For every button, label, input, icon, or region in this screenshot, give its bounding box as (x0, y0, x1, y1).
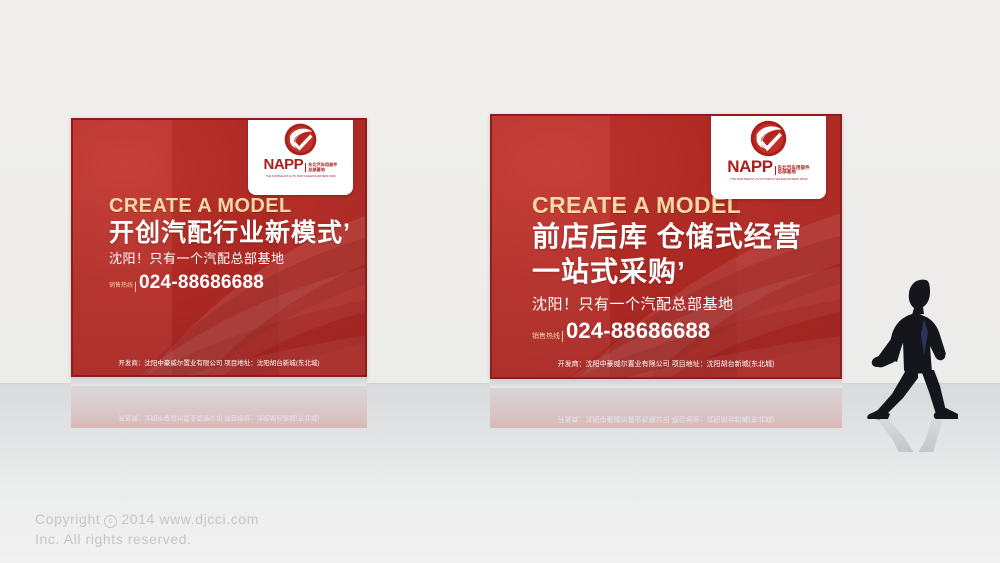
copyright-block: Copyrightc2014 www.djcci.com Inc. All ri… (35, 509, 259, 550)
napp-logo-plaque[interactable]: NAPP 东北汽车用部件 总部基地 THE NORTHEAST AUTO PAR… (248, 118, 353, 195)
phone-row: 销售热线 024-88686688 (532, 320, 802, 342)
subline-text: 沈阳！只有一个汽配总部基地 (109, 251, 351, 267)
subline-text: 沈阳！只有一个汽配总部基地 (532, 296, 802, 314)
headline-text: 开创汽配行业新模式’ (109, 219, 351, 247)
phone-number: 024-88686688 (566, 320, 710, 342)
logo-en-tagline: THE NORTHEAST AUTO PARTS HEADQUARTERS PA… (730, 177, 808, 181)
logo-cn-line2: 总部基地 (778, 170, 810, 175)
copyright-line-2: Inc. All rights reserved. (35, 529, 259, 549)
billboard-left-copy: CREATE A MODEL 开创汽配行业新模式’ 沈阳！只有一个汽配总部基地 … (109, 196, 351, 292)
phone-label: 销售热线 (109, 282, 136, 292)
logo-wordmark-row: NAPP 东北汽车用部件 总部基地 (727, 158, 809, 175)
logo-wordmark-row: NAPP 东北汽车用部件 总部基地 (263, 157, 337, 172)
logo-cn-line2: 总部基地 (308, 168, 337, 172)
billboard-right-base (490, 379, 842, 388)
copyright-symbol-icon: c (104, 515, 117, 528)
pedestrian-silhouette (866, 274, 970, 420)
headline-text: 前店后库 仓储式经营 (532, 221, 802, 252)
logo-napp-text: NAPP (727, 158, 772, 175)
billboard-left[interactable]: NAPP 东北汽车用部件 总部基地 THE NORTHEAST AUTO PAR… (71, 118, 367, 377)
billboard-left-base (71, 377, 367, 386)
napp-emblem-icon (284, 123, 317, 156)
billboard-footer-text: 开发商：沈阳中豪威尔置业有限公司 项目地址：沈阳胡台新城(东北城) (71, 357, 367, 367)
copyright-year-url: 2014 www.djcci.com (121, 511, 259, 527)
logo-chinese-block: 东北汽车用部件 总部基地 (305, 163, 337, 172)
napp-logo-plaque[interactable]: NAPP 东北汽车用部件 总部基地 THE NORTHEAST AUTO PAR… (711, 114, 826, 199)
billboard-right[interactable]: NAPP 东北汽车用部件 总部基地 THE NORTHEAST AUTO PAR… (490, 114, 842, 379)
logo-en-tagline: THE NORTHEAST AUTO PARTS HEADQUARTERS PA… (265, 174, 335, 178)
napp-emblem-icon (750, 120, 787, 157)
copyright-word: Copyright (35, 511, 100, 527)
eyebrow-text: CREATE A MODEL (109, 196, 351, 216)
phone-label: 销售热线 (532, 331, 563, 342)
billboard-footer-text: 开发商：沈阳中豪威尔置业有限公司 项目地址：沈阳胡台新城(东北城) (490, 359, 842, 369)
headline-text-line2: 一站式采购’ (532, 256, 802, 287)
phone-row: 销售热线 024-88686688 (109, 273, 351, 292)
billboard-right-copy: CREATE A MODEL 前店后库 仓储式经营 一站式采购’ 沈阳！只有一个… (532, 194, 802, 342)
logo-napp-text: NAPP (263, 157, 303, 172)
phone-number: 024-88686688 (139, 273, 264, 292)
copyright-line-1: Copyrightc2014 www.djcci.com (35, 509, 259, 529)
scene: NAPP 东北汽车用部件 总部基地 THE NORTHEAST AUTO PAR… (0, 0, 1000, 563)
logo-chinese-block: 东北汽车用部件 总部基地 (775, 166, 810, 175)
